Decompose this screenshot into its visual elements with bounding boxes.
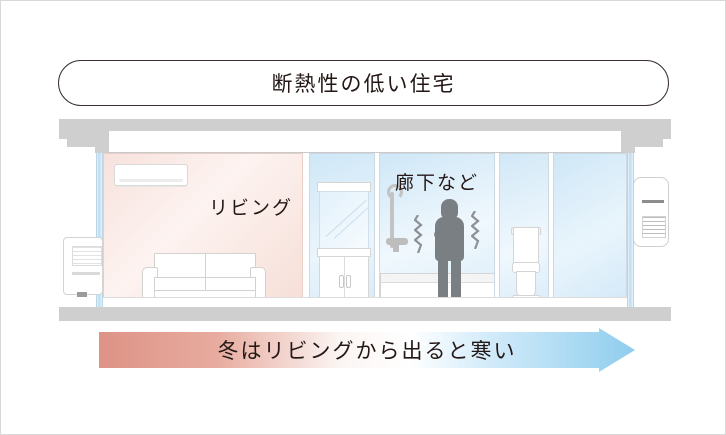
- shower-head-icon: [386, 238, 408, 245]
- room-cold-right: [553, 153, 627, 308]
- illustration-canvas: 断熱性の低い住宅: [0, 0, 726, 435]
- page-title: 断熱性の低い住宅: [272, 68, 456, 98]
- mirror-shine-1: [326, 200, 367, 237]
- person-leg-left: [438, 257, 448, 302]
- floor-slab: [59, 307, 671, 321]
- toilet-icon: [511, 227, 539, 307]
- person-torso: [435, 217, 464, 261]
- cabinet-handle-right: [346, 275, 351, 288]
- air-conditioner-outdoor-icon: [59, 237, 103, 301]
- person-leg-right: [451, 257, 461, 302]
- outdoor-unit-bar: [72, 272, 100, 275]
- room-label-living: リビング: [209, 193, 293, 220]
- water-heater-bar: [642, 200, 664, 203]
- ceiling-drop-right: [621, 131, 635, 153]
- water-heater-grill: [642, 216, 666, 238]
- room-toilet: [499, 153, 549, 308]
- floor-inner: [103, 297, 627, 307]
- ceiling-drop-left: [95, 131, 109, 153]
- outdoor-unit-foot: [77, 292, 87, 297]
- cabinet-handle-left: [339, 275, 344, 288]
- person-head: [441, 199, 458, 219]
- sofa-icon: [142, 253, 266, 301]
- shiver-lines-left: [414, 215, 423, 253]
- room-washroom: [309, 153, 375, 308]
- house-cross-section: リビング 廊下など: [59, 119, 671, 321]
- water-heater-body: [633, 177, 669, 247]
- outdoor-unit-body: [63, 237, 103, 295]
- toilet-tank: [513, 227, 539, 263]
- person-shivering-icon: [426, 199, 472, 307]
- air-conditioner-indoor-icon: [114, 164, 188, 186]
- room-living: [103, 153, 303, 308]
- water-heater-icon: [631, 177, 671, 245]
- room-label-hallway: 廊下など: [395, 168, 479, 195]
- outdoor-unit-grill: [72, 246, 102, 266]
- arrow-banner: 冬はリビングから出ると寒い: [99, 328, 635, 372]
- shiver-lines-right: [471, 211, 480, 249]
- roof-slab: [67, 119, 663, 131]
- vanity-unit-icon: [317, 182, 369, 307]
- rooms-container: リビング 廊下など: [103, 153, 627, 308]
- title-pill: 断熱性の低い住宅: [58, 60, 669, 106]
- arrow-label: 冬はリビングから出ると寒い: [99, 328, 635, 372]
- vanity-mirror: [319, 191, 369, 249]
